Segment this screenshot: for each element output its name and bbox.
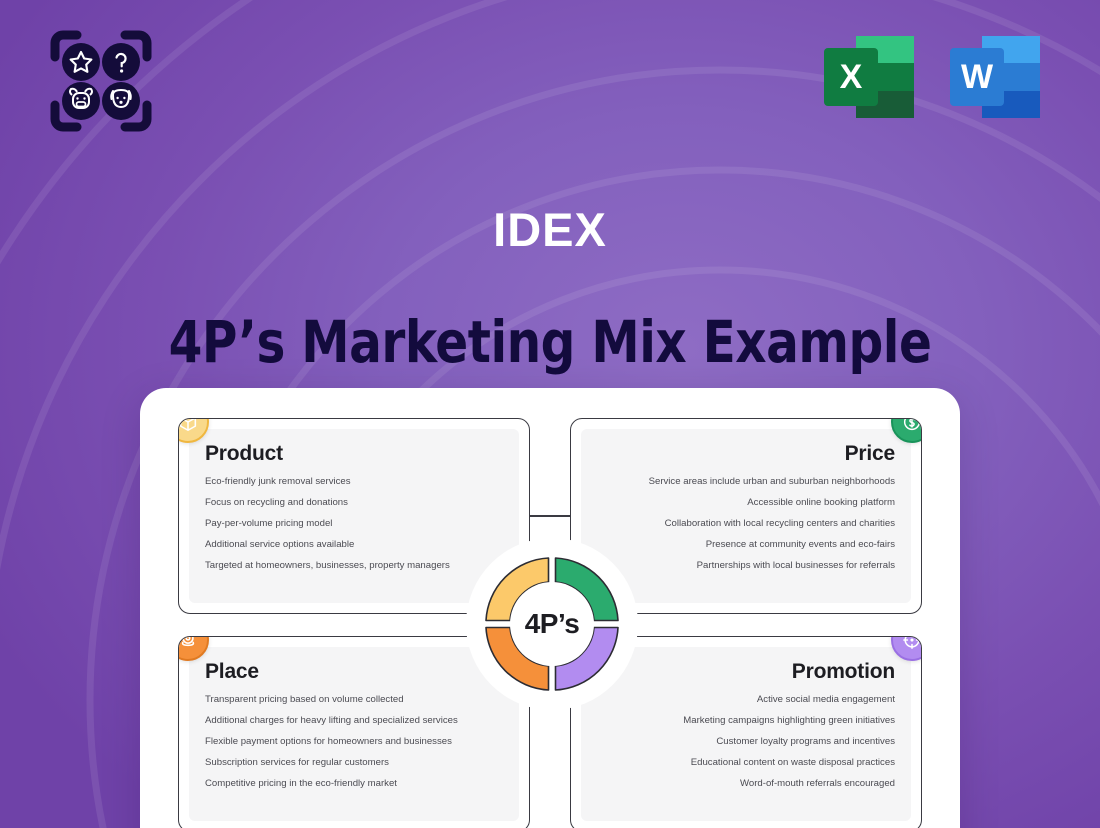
question-mark-icon bbox=[102, 43, 140, 81]
center-donut: 4P’s bbox=[474, 546, 630, 702]
brand-name: IDEX bbox=[0, 206, 1100, 253]
four-p-grid: Product Eco-friendly junk removal servic… bbox=[178, 418, 922, 828]
excel-icon[interactable]: X bbox=[820, 30, 918, 124]
list-item: Accessible online booking platform bbox=[597, 498, 895, 508]
quadrant-item-list: Active social media engagement Marketing… bbox=[597, 695, 895, 789]
list-item: Additional charges for heavy lifting and… bbox=[205, 716, 503, 726]
list-item: Active social media engagement bbox=[597, 695, 895, 705]
diagram-card: Product Eco-friendly junk removal servic… bbox=[140, 388, 960, 828]
word-icon-letter: W bbox=[961, 58, 994, 96]
list-item: Transparent pricing based on volume coll… bbox=[205, 695, 503, 705]
quadrant-title: Promotion bbox=[597, 661, 895, 682]
grid-connector-horizontal bbox=[530, 515, 570, 517]
list-item: Subscription services for regular custom… bbox=[205, 758, 503, 768]
dog-icon bbox=[102, 82, 140, 120]
excel-icon-letter: X bbox=[840, 58, 863, 96]
quadrant-item-list: Eco-friendly junk removal services Focus… bbox=[205, 477, 503, 571]
quadrant-title: Price bbox=[597, 443, 895, 464]
list-item: Additional service options available bbox=[205, 540, 503, 550]
quadrant-title: Product bbox=[205, 443, 503, 464]
list-item: Partnerships with local businesses for r… bbox=[597, 561, 895, 571]
list-item: Collaboration with local recycling cente… bbox=[597, 519, 895, 529]
list-item: Service areas include urban and suburban… bbox=[597, 477, 895, 487]
quadrant-item-list: Service areas include urban and suburban… bbox=[597, 477, 895, 571]
list-item: Targeted at homeowners, businesses, prop… bbox=[205, 561, 503, 571]
list-item: Competitive pricing in the eco-friendly … bbox=[205, 779, 503, 789]
quadrant-item-list: Transparent pricing based on volume coll… bbox=[205, 695, 503, 789]
list-item: Educational content on waste disposal pr… bbox=[597, 758, 895, 768]
slide-canvas: X W IDEX 4P’s Marketing Mix Example bbox=[0, 0, 1100, 828]
list-item: Focus on recycling and donations bbox=[205, 498, 503, 508]
cow-icon bbox=[62, 82, 100, 120]
list-item: Flexible payment options for homeowners … bbox=[205, 737, 503, 747]
list-item: Presence at community events and eco-fai… bbox=[597, 540, 895, 550]
quadrant-title: Place bbox=[205, 661, 503, 682]
list-item: Word-of-mouth referrals encouraged bbox=[597, 779, 895, 789]
list-item: Pay-per-volume pricing model bbox=[205, 519, 503, 529]
export-icons-group: X W bbox=[820, 30, 1044, 124]
list-item: Marketing campaigns highlighting green i… bbox=[597, 716, 895, 726]
list-item: Eco-friendly junk removal services bbox=[205, 477, 503, 487]
page-title: 4P’s Marketing Mix Example bbox=[39, 312, 1062, 373]
app-logo[interactable] bbox=[47, 27, 155, 135]
star-icon bbox=[62, 43, 100, 81]
word-icon[interactable]: W bbox=[946, 30, 1044, 124]
list-item: Customer loyalty programs and incentives bbox=[597, 737, 895, 747]
